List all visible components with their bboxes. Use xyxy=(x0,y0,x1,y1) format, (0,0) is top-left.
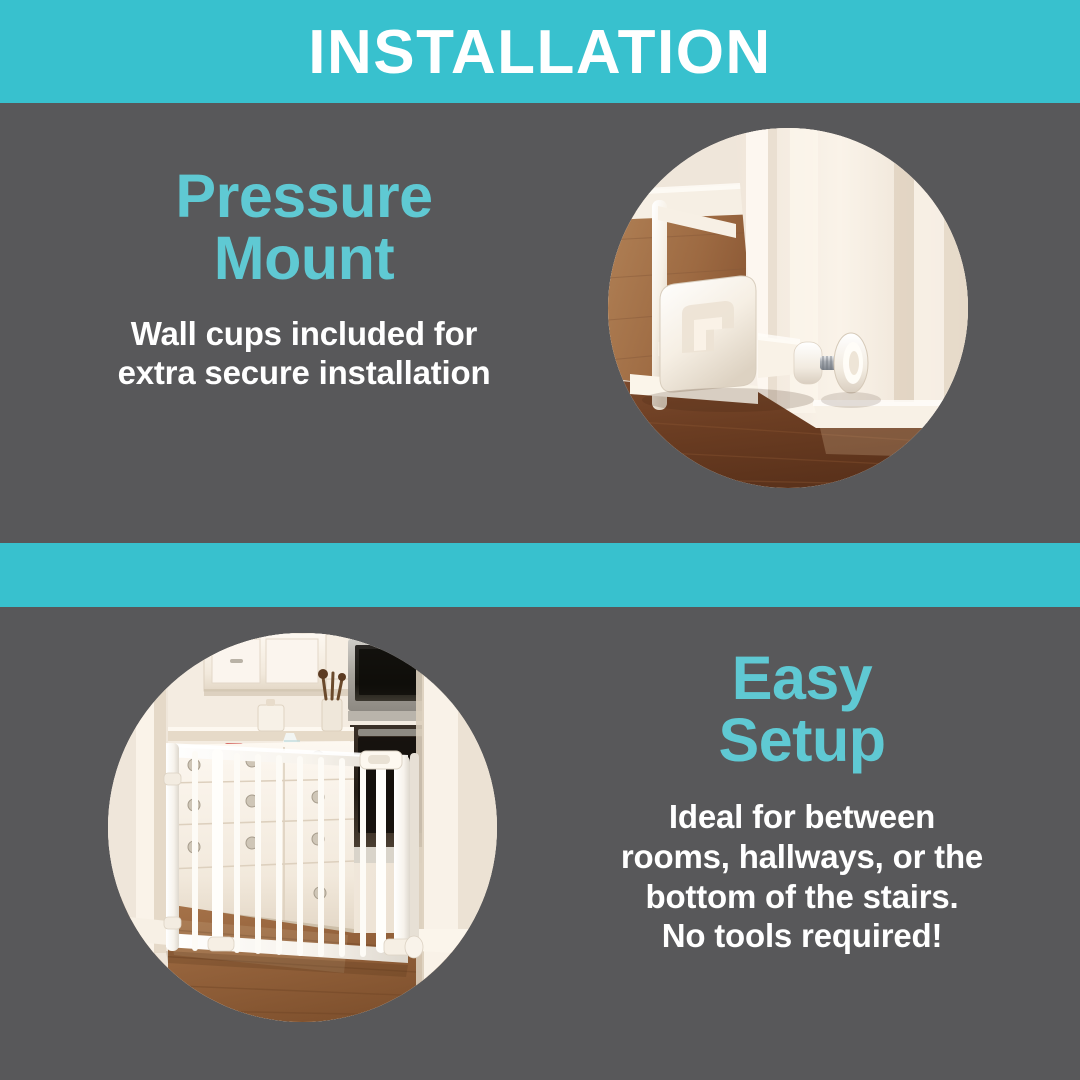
feature-heading-line: Easy xyxy=(540,647,1064,709)
feature-heading-pressure-mount: Pressure Mount xyxy=(34,165,574,289)
feature-body-line: bottom of the stairs. xyxy=(540,877,1064,917)
feature-heading-line: Mount xyxy=(34,227,574,289)
feature-text-block-pressure-mount: Pressure Mount Wall cups included for ex… xyxy=(34,165,574,393)
feature-section-pressure-mount: Pressure Mount Wall cups included for ex… xyxy=(0,103,1080,543)
feature-body-line: No tools required! xyxy=(540,916,1064,956)
feature-heading-easy-setup: Easy Setup xyxy=(540,647,1064,771)
header-band: INSTALLATION xyxy=(0,0,1080,103)
feature-body-line: extra secure installation xyxy=(34,354,574,393)
feature-heading-line: Setup xyxy=(540,709,1064,771)
product-photo-easy-setup xyxy=(108,633,497,1022)
page-title: INSTALLATION xyxy=(308,22,771,84)
easy-setup-scene xyxy=(108,633,497,1022)
feature-body-line: Ideal for between xyxy=(540,797,1064,837)
feature-body-line: Wall cups included for xyxy=(34,315,574,354)
installation-infographic: INSTALLATION Pressure Mount Wall cups in… xyxy=(0,0,1080,1080)
feature-text-block-easy-setup: Easy Setup Ideal for between rooms, hall… xyxy=(540,647,1064,956)
feature-heading-line: Pressure xyxy=(34,165,574,227)
feature-body-line: rooms, hallways, or the xyxy=(540,837,1064,877)
feature-section-easy-setup: Easy Setup Ideal for between rooms, hall… xyxy=(0,607,1080,1080)
product-photo-pressure-mount xyxy=(608,128,968,488)
pressure-mount-scene xyxy=(608,128,968,488)
feature-body-easy-setup: Ideal for between rooms, hallways, or th… xyxy=(540,797,1064,955)
feature-body-pressure-mount: Wall cups included for extra secure inst… xyxy=(34,315,574,392)
divider-band xyxy=(0,543,1080,607)
